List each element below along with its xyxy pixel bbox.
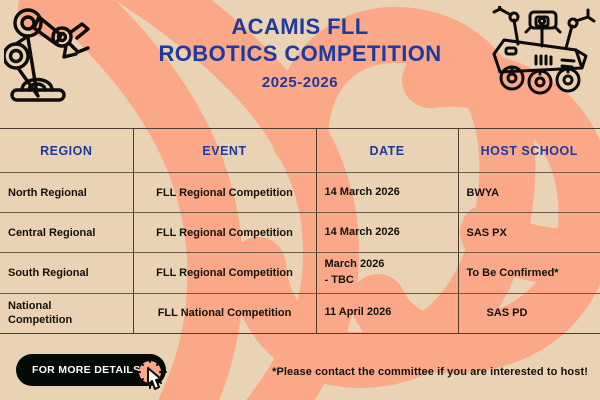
poster-header: ACAMIS FLL ROBOTICS COMPETITION 2025-202… xyxy=(0,0,600,128)
cell-event: FLL National Competition xyxy=(133,293,316,333)
cell-host-school: SAS PX xyxy=(458,213,600,253)
column-header-host-school: HOST SCHOOL xyxy=(458,129,600,173)
cell-event: FLL Regional Competition xyxy=(133,253,316,294)
column-header-event: EVENT xyxy=(133,129,316,173)
robot-arm-icon xyxy=(4,4,108,116)
for-more-details-label: FOR MORE DETAILS xyxy=(16,364,140,376)
cell-region: National Competition xyxy=(0,293,133,333)
table-row: South Regional FLL Regional Competition … xyxy=(0,253,600,294)
poster-footer: FOR MORE DETAILS *Please contact the com… xyxy=(0,340,600,400)
title-line-1: ACAMIS FLL xyxy=(115,14,485,40)
cell-date: 14 March 2026 xyxy=(316,213,458,253)
mars-rover-icon xyxy=(484,6,596,104)
poster-canvas: ACAMIS FLL ROBOTICS COMPETITION 2025-202… xyxy=(0,0,600,400)
host-contact-note: *Please contact the committee if you are… xyxy=(272,366,588,378)
cell-event: FLL Regional Competition xyxy=(133,173,316,213)
column-header-date: DATE xyxy=(316,129,458,173)
page-title: ACAMIS FLL ROBOTICS COMPETITION 2025-202… xyxy=(115,14,485,91)
cell-host-school: SAS PD xyxy=(458,293,600,333)
title-years: 2025-2026 xyxy=(115,74,485,91)
cell-region: North Regional xyxy=(0,173,133,213)
click-cursor-icon xyxy=(128,352,174,400)
table-header-row: REGION EVENT DATE HOST SCHOOL xyxy=(0,129,600,173)
cell-host-school: BWYA xyxy=(458,173,600,213)
cell-host-school: To Be Confirmed* xyxy=(458,253,600,294)
cell-event: FLL Regional Competition xyxy=(133,213,316,253)
title-line-2: ROBOTICS COMPETITION xyxy=(115,40,485,69)
column-header-region: REGION xyxy=(0,129,133,173)
cell-date: March 2026 - TBC xyxy=(316,253,458,294)
table-row: North Regional FLL Regional Competition … xyxy=(0,173,600,213)
competition-schedule-table: REGION EVENT DATE HOST SCHOOL North Regi… xyxy=(0,128,600,334)
table-row: National Competition FLL National Compet… xyxy=(0,293,600,333)
cell-date: 11 April 2026 xyxy=(316,293,458,333)
cell-region: South Regional xyxy=(0,253,133,294)
cell-date: 14 March 2026 xyxy=(316,173,458,213)
table-row: Central Regional FLL Regional Competitio… xyxy=(0,213,600,253)
for-more-details-button[interactable]: FOR MORE DETAILS xyxy=(16,354,166,386)
cell-region: Central Regional xyxy=(0,213,133,253)
